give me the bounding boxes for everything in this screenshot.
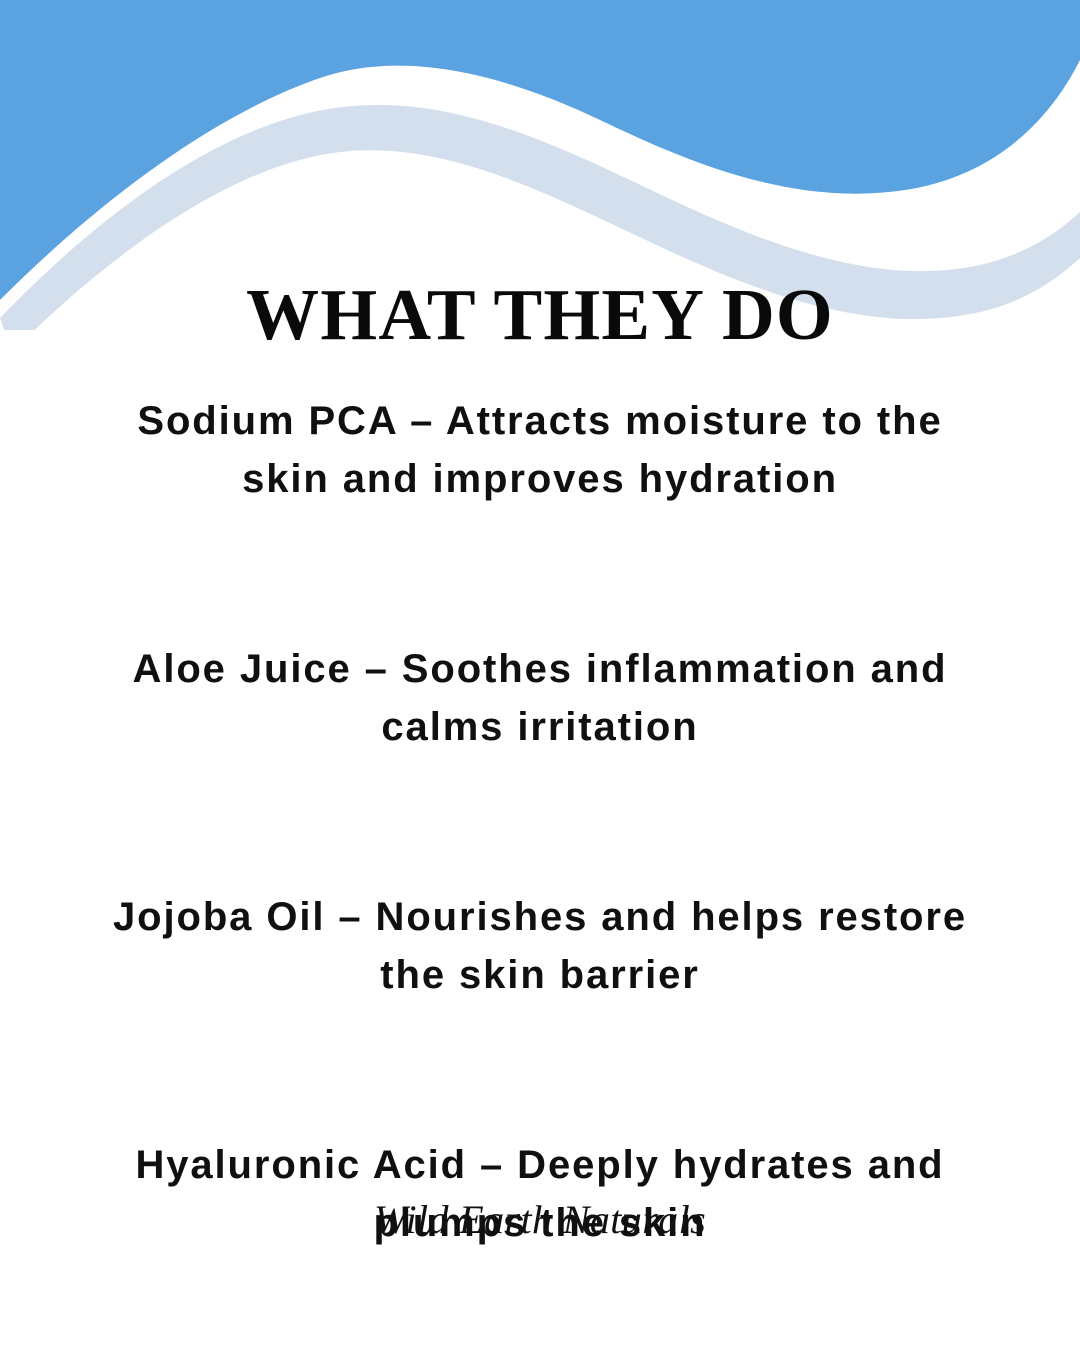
benefit-list: Sodium PCA – Attracts moisture to the sk… <box>90 392 990 1252</box>
benefit-item-aloe-juice: Aloe Juice – Soothes inflammation and ca… <box>90 640 990 756</box>
page-title: WHAT THEY DO <box>0 275 1080 355</box>
brand-signature: Wild Earth Naturals <box>0 1196 1080 1244</box>
benefit-item-jojoba-oil: Jojoba Oil – Nourishes and helps restore… <box>90 888 990 1004</box>
benefit-item-sodium-pca: Sodium PCA – Attracts moisture to the sk… <box>90 392 990 508</box>
poster-canvas: WHAT THEY DO Sodium PCA – Attracts moist… <box>0 0 1080 1350</box>
blue-wave-shape <box>0 0 1080 300</box>
